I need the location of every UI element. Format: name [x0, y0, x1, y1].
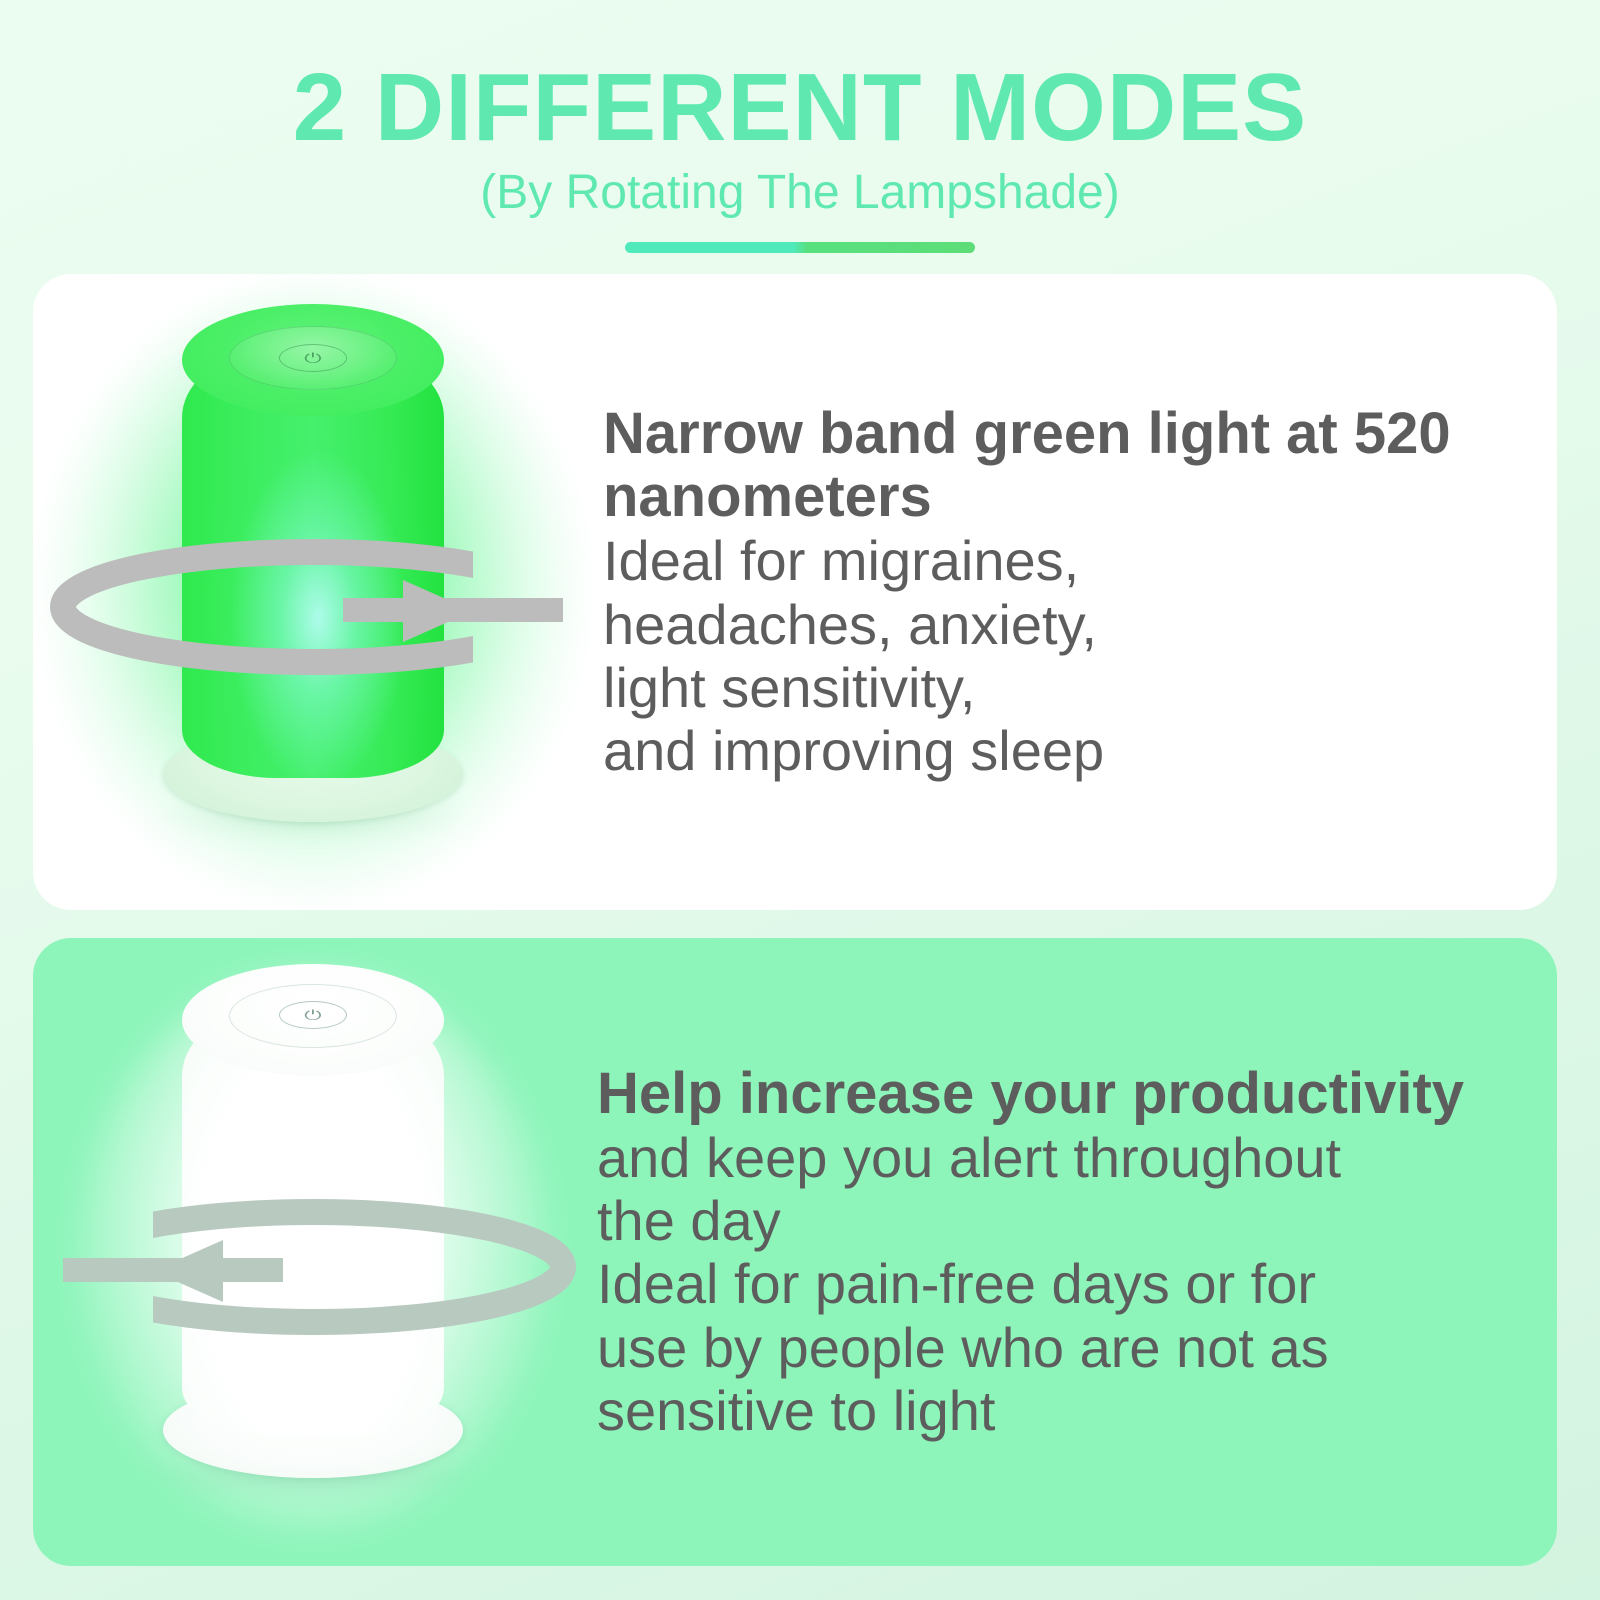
- white-light-heading: Help increase your productivity: [597, 1062, 1507, 1126]
- mode-card-white-light: ⏻ Help increase your prod: [33, 938, 1557, 1566]
- green-lamp-figure: ⏻: [33, 274, 593, 910]
- power-button[interactable]: ⏻: [279, 1001, 347, 1029]
- mode-card-green-light: ⏻ Narrow band green light: [33, 274, 1557, 910]
- divider-wrap: [0, 242, 1600, 253]
- white-light-line-1: and keep you alert throughout: [597, 1126, 1507, 1189]
- lamp-stage-white: ⏻: [33, 938, 593, 1566]
- green-light-line-3: light sensitivity,: [603, 656, 1507, 719]
- page-subtitle: (By Rotating The Lampshade): [0, 167, 1600, 220]
- rotate-left-icon: [43, 1192, 583, 1342]
- power-icon: ⏻: [304, 351, 321, 365]
- page-header: 2 DIFFERENT MODES (By Rotating The Lamps…: [0, 0, 1600, 253]
- page-title: 2 DIFFERENT MODES: [0, 58, 1600, 159]
- white-lamp-figure: ⏻: [33, 938, 593, 1566]
- green-light-heading: Narrow band green light at 520 nanometer…: [603, 402, 1507, 530]
- white-light-line-5: sensitive to light: [597, 1379, 1507, 1442]
- header-divider: [625, 242, 975, 253]
- rotate-right-icon: [43, 532, 583, 682]
- green-light-line-1: Ideal for migraines,: [603, 529, 1507, 592]
- green-light-line-2: headaches, anxiety,: [603, 593, 1507, 656]
- power-button[interactable]: ⏻: [279, 344, 347, 372]
- power-icon: ⏻: [304, 1008, 321, 1022]
- white-light-copy: Help increase your productivity and keep…: [593, 1062, 1557, 1442]
- green-light-line-4: and improving sleep: [603, 719, 1507, 782]
- white-light-line-3: Ideal for pain-free days or for: [597, 1252, 1507, 1315]
- white-light-line-2: the day: [597, 1189, 1507, 1252]
- white-light-line-4: use by people who are not as: [597, 1316, 1507, 1379]
- lamp-stage-green: ⏻: [33, 274, 593, 910]
- green-light-copy: Narrow band green light at 520 nanometer…: [593, 402, 1557, 783]
